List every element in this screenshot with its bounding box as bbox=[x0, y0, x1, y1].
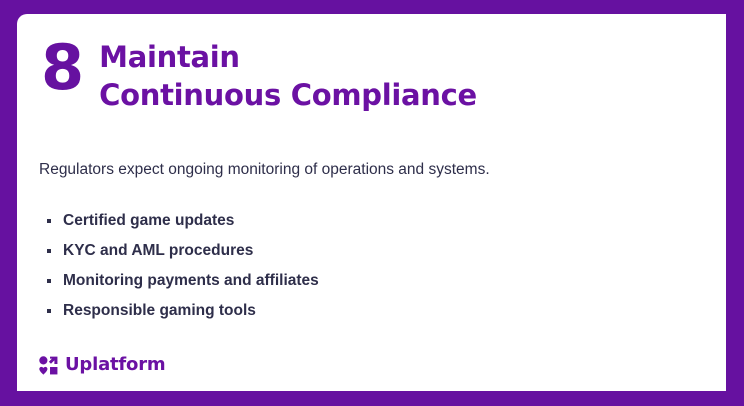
slide-frame: 8 Maintain Continuous Compliance Regulat… bbox=[0, 0, 744, 406]
heading-block: 8 Maintain Continuous Compliance bbox=[41, 29, 477, 114]
list-item: Responsible gaming tools bbox=[39, 296, 319, 326]
bullet-dot-icon bbox=[47, 219, 51, 223]
list-item-label: Monitoring payments and affiliates bbox=[63, 271, 319, 291]
bullet-dot-icon bbox=[47, 249, 51, 253]
page-title-line-2: Continuous Compliance bbox=[99, 76, 477, 114]
page-title: Maintain Continuous Compliance bbox=[99, 29, 477, 114]
uplatform-suits-icon bbox=[39, 356, 58, 375]
list-item: Monitoring payments and affiliates bbox=[39, 266, 319, 296]
list-item-label: Responsible gaming tools bbox=[63, 301, 256, 321]
brand-logo: Uplatform bbox=[39, 355, 165, 375]
page-title-line-1: Maintain bbox=[99, 38, 477, 76]
list-item-label: KYC and AML procedures bbox=[63, 241, 253, 261]
bullet-dot-icon bbox=[47, 279, 51, 283]
list-item: Certified game updates bbox=[39, 206, 319, 236]
brand-wordmark: Uplatform bbox=[65, 355, 165, 375]
slide-canvas: 8 Maintain Continuous Compliance Regulat… bbox=[17, 14, 726, 391]
step-number: 8 bbox=[41, 29, 83, 107]
subtitle-text: Regulators expect ongoing monitoring of … bbox=[39, 159, 490, 181]
list-item-label: Certified game updates bbox=[63, 211, 234, 231]
list-item: KYC and AML procedures bbox=[39, 236, 319, 266]
bullet-dot-icon bbox=[47, 309, 51, 313]
bullet-list: Certified game updates KYC and AML proce… bbox=[39, 206, 319, 326]
